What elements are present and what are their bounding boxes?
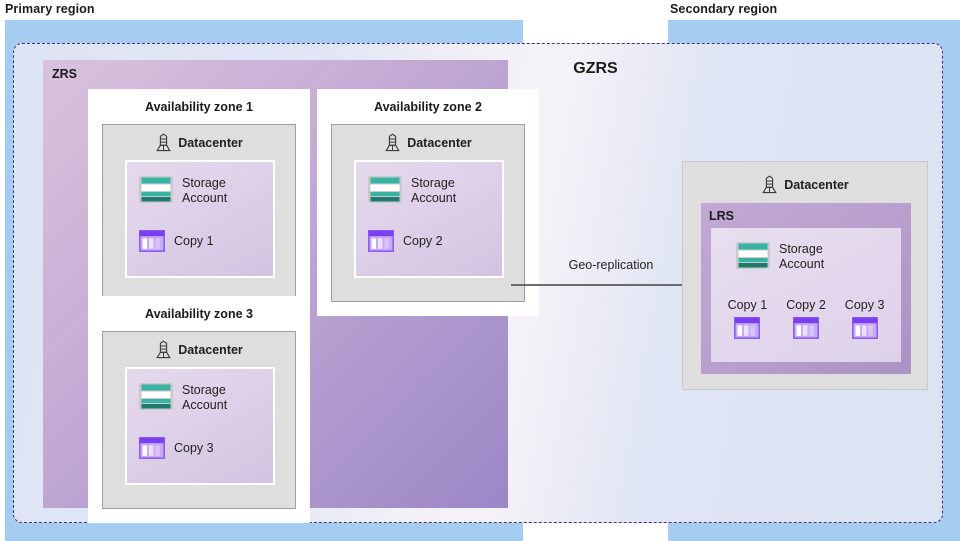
storage-account-icon [139,383,173,410]
datacenter-icon [761,175,778,194]
storage-panel-zone-2: Storage Account Copy 2 [354,160,504,278]
copy-icon [139,230,165,252]
lrs-label: LRS [709,209,734,223]
copy-row: Copy 3 [139,437,214,459]
copy-icon [793,317,819,339]
datacenter-panel-zone-3: Datacenter Storage [102,331,296,509]
lrs-copy-3: Copy 3 [845,298,885,339]
geo-replication-label: Geo-replication [511,258,711,272]
arrow-right-icon [511,278,711,292]
datacenter-icon [155,340,172,359]
storage-panel-zone-1: Storage Account Copy 1 [125,160,275,278]
lrs-copy-2: Copy 2 [786,298,826,339]
availability-zone-2-title: Availability zone 2 [317,100,539,114]
datacenter-panel-zone-1: Datacenter Storage [102,124,296,302]
primary-region-label: Primary region [5,2,95,16]
copy-icon [852,317,878,339]
datacenter-panel-zone-2: Datacenter Storage [331,124,525,302]
availability-zone-2: Availability zone 2 Datacenter [317,89,539,316]
lrs-copies-group: Copy 1 Copy 2 [711,298,901,339]
geo-replication-connector: Geo-replication [511,258,711,298]
availability-zone-1-title: Availability zone 1 [88,100,310,114]
storage-account-row: Storage Account [139,176,227,206]
zrs-container: ZRS Availability zone 1 Datacenter [43,60,508,508]
copy-icon [734,317,760,339]
datacenter-header: Datacenter [103,340,295,359]
copy-label: Copy 3 [174,441,214,455]
storage-account-icon [139,176,173,203]
storage-account-row: Storage Account [736,242,824,272]
datacenter-label: Datacenter [784,178,849,192]
lrs-copy-1: Copy 1 [728,298,768,339]
datacenter-label: Datacenter [178,136,243,150]
lrs-copy-1-label: Copy 1 [728,298,768,312]
diagram-canvas: Primary region Secondary region GZRS ZRS… [0,0,960,541]
datacenter-header: Datacenter [332,133,524,152]
datacenter-label: Datacenter [407,136,472,150]
storage-account-row: Storage Account [368,176,456,206]
secondary-datacenter-panel: Datacenter LRS Storage Account [682,161,928,390]
datacenter-header: Datacenter [683,175,927,194]
datacenter-icon [384,133,401,152]
storage-account-icon [368,176,402,203]
lrs-inner-panel: Storage Account Copy 1 [711,228,901,362]
storage-panel-zone-3: Storage Account Copy 3 [125,367,275,485]
lrs-copy-3-label: Copy 3 [845,298,885,312]
zrs-label: ZRS [52,67,77,81]
copy-label: Copy 2 [403,234,443,248]
copy-icon [139,437,165,459]
gzrs-title: GZRS [523,60,668,78]
datacenter-header: Datacenter [103,133,295,152]
copy-row: Copy 1 [139,230,214,252]
copy-icon [368,230,394,252]
lrs-container: LRS Storage Account [701,203,911,374]
availability-zone-3: Availability zone 3 Datacenter [88,296,310,523]
availability-zone-1: Availability zone 1 Datacenter [88,89,310,316]
storage-account-label: Storage Account [182,176,227,206]
datacenter-label: Datacenter [178,343,243,357]
storage-account-label: Storage Account [411,176,456,206]
lrs-copy-2-label: Copy 2 [786,298,826,312]
copy-label: Copy 1 [174,234,214,248]
secondary-region-label: Secondary region [670,2,777,16]
copy-row: Copy 2 [368,230,443,252]
storage-account-label: Storage Account [182,383,227,413]
storage-account-icon [736,242,770,269]
storage-account-row: Storage Account [139,383,227,413]
storage-account-label: Storage Account [779,242,824,272]
datacenter-icon [155,133,172,152]
availability-zone-3-title: Availability zone 3 [88,307,310,321]
